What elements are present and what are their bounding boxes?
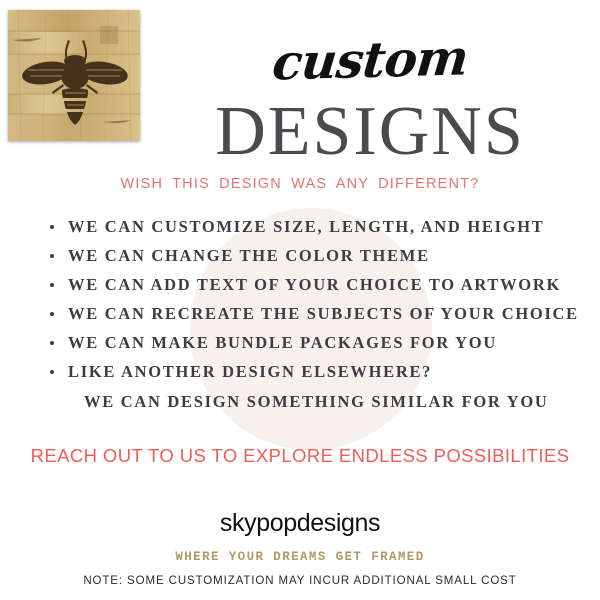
list-item: WE CAN CUSTOMIZE SIZE, LENGTH, AND HEIGH… <box>46 212 591 241</box>
bee-on-wood-illustration <box>8 10 140 141</box>
list-item-label: WE CAN CHANGE THE COLOR THEME <box>68 246 430 265</box>
list-item-label: WE CAN CUSTOMIZE SIZE, LENGTH, AND HEIGH… <box>68 217 545 236</box>
brand-tagline: WHERE YOUR DREAMS GET FRAMED <box>0 550 600 564</box>
script-title: custom <box>270 33 470 87</box>
list-item: WE CAN RECREATE THE SUBJECTS OF YOUR CHO… <box>46 299 591 328</box>
page-title: DESIGNS <box>140 97 600 167</box>
list-item: WE CAN CHANGE THE COLOR THEME <box>46 241 591 270</box>
bee-artwork-image[interactable] <box>8 10 140 141</box>
list-item-label: WE CAN DESIGN SOMETHING SIMILAR FOR YOU <box>84 392 548 411</box>
bullet-dot-icon <box>50 312 54 316</box>
list-item: LIKE ANOTHER DESIGN ELSEWHERE? <box>46 357 591 386</box>
list-item-label: WE CAN MAKE BUNDLE PACKAGES FOR YOU <box>68 333 497 352</box>
headline-block: custom DESIGNS <box>140 0 600 167</box>
feature-list: WE CAN CUSTOMIZE SIZE, LENGTH, AND HEIGH… <box>46 212 591 418</box>
bullet-dot-icon <box>50 341 54 345</box>
list-item-label: WE CAN ADD TEXT OF YOUR CHOICE TO ARTWOR… <box>68 275 561 294</box>
list-item: WE CAN ADD TEXT OF YOUR CHOICE TO ARTWOR… <box>46 270 591 299</box>
disclaimer-note: NOTE: SOME CUSTOMIZATION MAY INCUR ADDIT… <box>0 575 600 587</box>
subtitle-question: WISH THIS DESIGN WAS ANY DIFFERENT? <box>0 176 600 192</box>
bullet-dot-icon <box>50 370 54 374</box>
bullet-dot-icon <box>50 254 54 258</box>
bullet-dot-icon <box>50 283 54 287</box>
brand-name: skypopdesigns <box>0 509 600 538</box>
list-item-label: WE CAN RECREATE THE SUBJECTS OF YOUR CHO… <box>68 304 579 323</box>
bullet-dot-icon <box>50 225 54 229</box>
list-item-label: LIKE ANOTHER DESIGN ELSEWHERE? <box>68 362 432 381</box>
promo-poster: custom DESIGNS WISH THIS DESIGN WAS ANY … <box>0 0 600 600</box>
list-item: WE CAN MAKE BUNDLE PACKAGES FOR YOU <box>46 328 591 357</box>
call-to-action-text: REACH OUT TO US TO EXPLORE ENDLESS POSSI… <box>0 445 600 467</box>
list-item-continuation: WE CAN DESIGN SOMETHING SIMILAR FOR YOU <box>46 386 591 418</box>
